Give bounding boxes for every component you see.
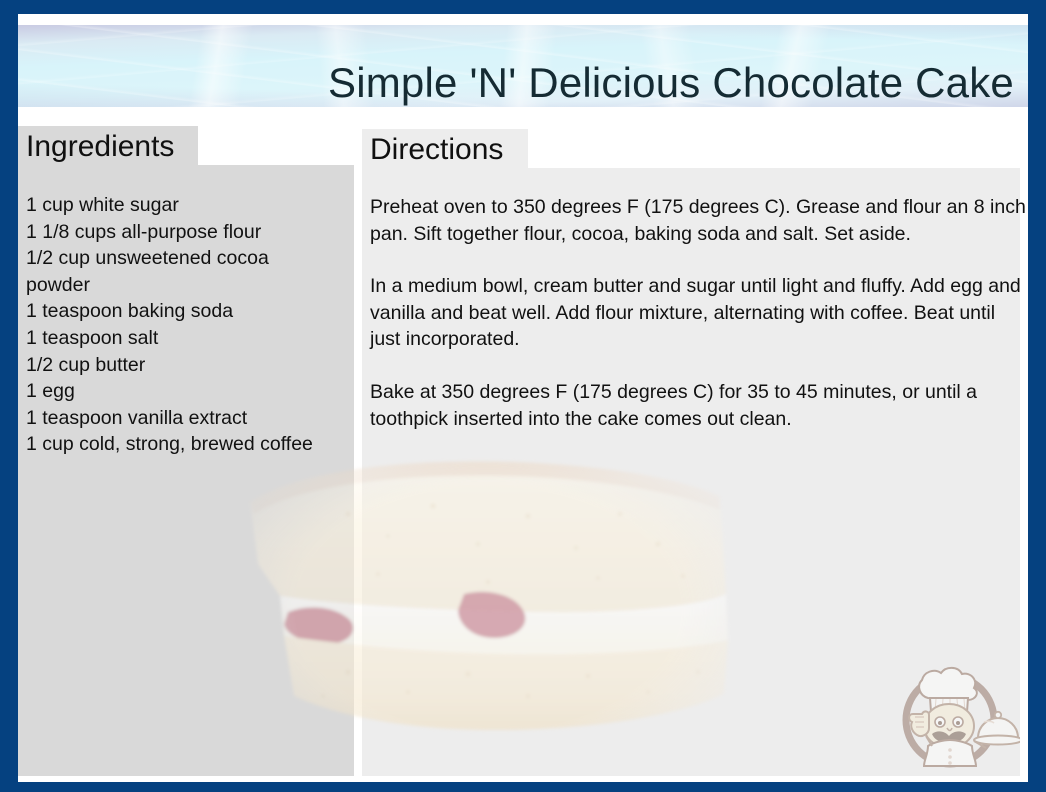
slide-canvas: Simple 'N' Delicious Chocolate Cake Ingr…	[18, 14, 1028, 782]
list-item: 1 1/8 cups all-purpose flour	[26, 219, 350, 246]
page-title: Simple 'N' Delicious Chocolate Cake	[328, 62, 1014, 104]
ingredients-heading: Ingredients	[26, 132, 174, 162]
list-item: 1 teaspoon baking soda	[26, 298, 350, 325]
directions-paragraph: Preheat oven to 350 degrees F (175 degre…	[370, 194, 1030, 247]
list-item: 1 teaspoon vanilla extract	[26, 405, 350, 432]
list-item: 1 teaspoon salt	[26, 325, 350, 352]
directions-paragraph: In a medium bowl, cream butter and sugar…	[370, 273, 1030, 353]
ingredients-list: 1 cup white sugar 1 1/8 cups all-purpose…	[26, 192, 350, 458]
list-item: 1/2 cup unsweetened cocoa	[26, 245, 350, 272]
list-item: 1 egg	[26, 378, 350, 405]
title-banner: Simple 'N' Delicious Chocolate Cake	[18, 25, 1028, 107]
list-item: 1 cup cold, strong, brewed coffee	[26, 431, 350, 458]
directions-paragraph: Bake at 350 degrees F (175 degrees C) fo…	[370, 379, 1030, 432]
list-item: powder	[26, 272, 350, 299]
list-item: 1/2 cup butter	[26, 352, 350, 379]
list-item: 1 cup white sugar	[26, 192, 350, 219]
directions-heading: Directions	[370, 135, 503, 165]
directions-text: Preheat oven to 350 degrees F (175 degre…	[370, 194, 1030, 432]
recipe-slide: Simple 'N' Delicious Chocolate Cake Ingr…	[0, 0, 1046, 792]
